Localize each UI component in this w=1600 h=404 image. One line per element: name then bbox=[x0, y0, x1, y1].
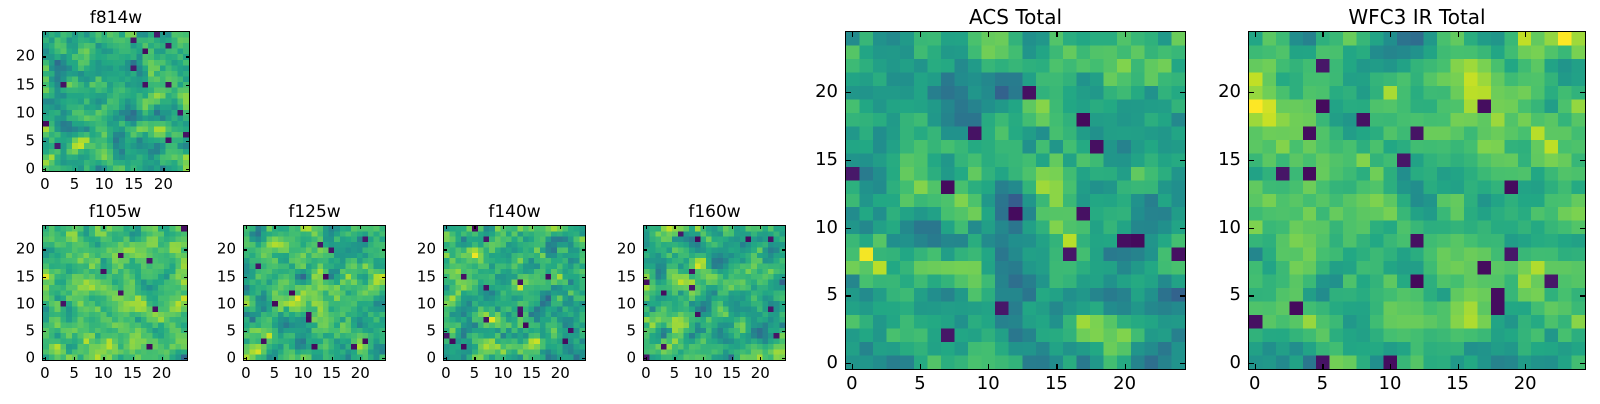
x-tick-mark-top bbox=[1525, 31, 1526, 37]
y-tick-label: 5 bbox=[0, 324, 35, 339]
x-tick-label: 10 bbox=[1379, 375, 1402, 393]
y-tick-mark bbox=[243, 331, 247, 332]
y-tick-mark bbox=[443, 277, 447, 278]
x-tick-label: 0 bbox=[40, 177, 50, 192]
heatmap-panel-wfc3-ir-total: WFC3 IR Total0510152005101520 bbox=[1178, 5, 1600, 404]
panel-title: ACS Total bbox=[845, 7, 1186, 27]
y-tick-label: 20 bbox=[373, 242, 436, 257]
x-tick-label: 20 bbox=[1514, 375, 1537, 393]
y-tick-mark-right bbox=[186, 113, 190, 114]
x-tick-label: 15 bbox=[1045, 375, 1068, 393]
x-tick-mark-top bbox=[760, 225, 761, 229]
y-tick-mark bbox=[443, 249, 447, 250]
x-tick-label: 20 bbox=[751, 366, 770, 381]
x-tick-mark bbox=[162, 357, 163, 361]
x-tick-mark bbox=[988, 364, 989, 370]
y-tick-mark bbox=[845, 295, 851, 296]
x-tick-label: 0 bbox=[846, 375, 857, 393]
x-tick-mark bbox=[360, 357, 361, 361]
x-tick-mark bbox=[1322, 364, 1323, 370]
axes-frame bbox=[1248, 31, 1586, 370]
panel-title: f125w bbox=[243, 204, 386, 221]
y-tick-label: 10 bbox=[373, 296, 436, 311]
x-tick-mark-top bbox=[45, 225, 46, 229]
y-tick-mark bbox=[243, 304, 247, 305]
x-tick-mark bbox=[560, 357, 561, 361]
y-tick-label: 5 bbox=[775, 286, 838, 304]
y-tick-mark bbox=[643, 304, 647, 305]
x-tick-mark bbox=[163, 168, 164, 172]
figure-canvas: f814w0510152005101520f105w05101520051015… bbox=[0, 0, 1600, 400]
x-tick-mark-top bbox=[360, 225, 361, 229]
x-tick-mark-top bbox=[446, 225, 447, 229]
y-tick-label: 15 bbox=[373, 269, 436, 284]
y-tick-label: 10 bbox=[0, 296, 35, 311]
x-tick-label: 5 bbox=[1317, 375, 1328, 393]
y-tick-label: 5 bbox=[373, 324, 436, 339]
x-tick-mark bbox=[760, 357, 761, 361]
y-tick-label: 0 bbox=[373, 351, 436, 366]
x-tick-mark-top bbox=[45, 31, 46, 35]
x-tick-label: 10 bbox=[94, 366, 113, 381]
x-tick-mark-top bbox=[503, 225, 504, 229]
x-tick-mark bbox=[74, 357, 75, 361]
y-tick-mark bbox=[845, 228, 851, 229]
x-tick-mark-top bbox=[246, 225, 247, 229]
x-tick-mark bbox=[134, 168, 135, 172]
x-tick-mark-top bbox=[1458, 31, 1459, 37]
x-tick-mark-top bbox=[1255, 31, 1256, 37]
x-tick-label: 0 bbox=[1249, 375, 1260, 393]
x-tick-label: 5 bbox=[670, 366, 680, 381]
x-tick-label: 10 bbox=[294, 366, 313, 381]
x-tick-mark bbox=[1458, 364, 1459, 370]
x-tick-mark bbox=[920, 364, 921, 370]
heatmap-image bbox=[444, 226, 585, 360]
y-tick-mark bbox=[42, 331, 46, 332]
y-tick-label: 0 bbox=[173, 351, 236, 366]
y-tick-mark bbox=[42, 141, 46, 142]
axes-frame bbox=[42, 31, 190, 172]
x-tick-mark-top bbox=[1056, 31, 1057, 37]
x-tick-mark-top bbox=[332, 225, 333, 229]
y-tick-mark bbox=[42, 277, 46, 278]
x-tick-mark-top bbox=[474, 225, 475, 229]
x-tick-mark-top bbox=[74, 225, 75, 229]
y-tick-label: 5 bbox=[1178, 286, 1241, 304]
x-tick-mark-top bbox=[703, 225, 704, 229]
x-tick-mark bbox=[104, 168, 105, 172]
y-tick-label: 10 bbox=[573, 296, 636, 311]
y-tick-label: 20 bbox=[775, 83, 838, 101]
x-tick-mark-top bbox=[852, 31, 853, 37]
x-tick-label: 5 bbox=[914, 375, 925, 393]
y-tick-mark bbox=[643, 277, 647, 278]
x-tick-label: 15 bbox=[1446, 375, 1469, 393]
y-tick-label: 20 bbox=[1178, 83, 1241, 101]
panel-title: f140w bbox=[443, 204, 586, 221]
y-tick-mark bbox=[643, 249, 647, 250]
y-tick-mark-right bbox=[1580, 92, 1586, 93]
x-tick-mark bbox=[474, 357, 475, 361]
x-tick-mark-top bbox=[303, 225, 304, 229]
axes-frame bbox=[845, 31, 1186, 370]
x-tick-label: 10 bbox=[694, 366, 713, 381]
panel-title: WFC3 IR Total bbox=[1248, 7, 1586, 27]
x-tick-mark bbox=[1125, 364, 1126, 370]
y-tick-mark bbox=[845, 160, 851, 161]
y-tick-mark-right bbox=[1580, 363, 1586, 364]
y-tick-label: 0 bbox=[573, 351, 636, 366]
y-tick-mark bbox=[42, 113, 46, 114]
y-tick-mark bbox=[1248, 363, 1254, 364]
y-tick-mark bbox=[42, 169, 46, 170]
y-tick-mark bbox=[443, 331, 447, 332]
y-tick-mark bbox=[243, 358, 247, 359]
x-tick-mark bbox=[274, 357, 275, 361]
axes-frame bbox=[42, 225, 188, 361]
x-tick-mark bbox=[503, 357, 504, 361]
y-tick-mark bbox=[1248, 92, 1254, 93]
x-tick-label: 15 bbox=[522, 366, 541, 381]
y-tick-mark bbox=[42, 56, 46, 57]
heatmap-image bbox=[1249, 32, 1585, 369]
x-tick-label: 20 bbox=[1113, 375, 1136, 393]
heatmap-image bbox=[43, 226, 187, 360]
y-tick-label: 10 bbox=[173, 296, 236, 311]
y-tick-label: 10 bbox=[775, 219, 838, 237]
y-tick-mark-right bbox=[186, 169, 190, 170]
y-tick-mark bbox=[443, 304, 447, 305]
y-tick-label: 5 bbox=[573, 324, 636, 339]
x-tick-mark-top bbox=[103, 225, 104, 229]
x-tick-mark bbox=[303, 357, 304, 361]
x-tick-mark-top bbox=[162, 225, 163, 229]
y-tick-label: 20 bbox=[573, 242, 636, 257]
y-tick-mark-right bbox=[1580, 295, 1586, 296]
x-tick-label: 15 bbox=[722, 366, 741, 381]
x-tick-mark bbox=[1390, 364, 1391, 370]
x-tick-label: 20 bbox=[351, 366, 370, 381]
axes-frame bbox=[243, 225, 386, 361]
x-tick-label: 20 bbox=[154, 177, 173, 192]
x-tick-mark-top bbox=[560, 225, 561, 229]
heatmap-image bbox=[43, 32, 189, 171]
x-tick-mark bbox=[332, 357, 333, 361]
y-tick-mark-right bbox=[186, 85, 190, 86]
y-tick-label: 0 bbox=[775, 354, 838, 372]
y-tick-label: 5 bbox=[173, 324, 236, 339]
x-tick-mark bbox=[732, 357, 733, 361]
y-tick-label: 15 bbox=[1178, 151, 1241, 169]
x-tick-mark-top bbox=[134, 31, 135, 35]
x-tick-mark-top bbox=[75, 31, 76, 35]
x-tick-label: 10 bbox=[977, 375, 1000, 393]
heatmap-image bbox=[644, 226, 785, 360]
x-tick-mark-top bbox=[532, 225, 533, 229]
x-tick-mark-top bbox=[133, 225, 134, 229]
y-tick-label: 10 bbox=[0, 105, 35, 120]
y-tick-label: 20 bbox=[0, 49, 35, 64]
y-tick-label: 15 bbox=[775, 151, 838, 169]
panel-title: f105w bbox=[42, 204, 188, 221]
y-tick-label: 15 bbox=[173, 269, 236, 284]
x-tick-label: 5 bbox=[69, 366, 79, 381]
y-tick-mark-right bbox=[186, 141, 190, 142]
x-tick-mark-top bbox=[1390, 31, 1391, 37]
y-tick-mark bbox=[1248, 228, 1254, 229]
y-tick-mark bbox=[243, 277, 247, 278]
panel-title: f814w bbox=[42, 10, 190, 27]
y-tick-label: 15 bbox=[0, 269, 35, 284]
y-tick-label: 20 bbox=[173, 242, 236, 257]
x-tick-label: 5 bbox=[70, 177, 80, 192]
x-tick-label: 15 bbox=[123, 366, 142, 381]
x-tick-label: 0 bbox=[241, 366, 251, 381]
x-tick-mark-top bbox=[163, 31, 164, 35]
x-tick-mark bbox=[103, 357, 104, 361]
axes-frame bbox=[443, 225, 586, 361]
x-tick-mark bbox=[674, 357, 675, 361]
y-tick-label: 5 bbox=[0, 133, 35, 148]
y-tick-mark bbox=[1248, 160, 1254, 161]
x-tick-mark bbox=[1056, 364, 1057, 370]
x-tick-label: 20 bbox=[551, 366, 570, 381]
axes-frame bbox=[643, 225, 786, 361]
x-tick-label: 0 bbox=[641, 366, 651, 381]
y-tick-mark bbox=[845, 363, 851, 364]
x-tick-label: 20 bbox=[152, 366, 171, 381]
y-tick-mark bbox=[42, 304, 46, 305]
x-tick-label: 10 bbox=[494, 366, 513, 381]
y-tick-label: 0 bbox=[0, 351, 35, 366]
y-tick-mark bbox=[243, 249, 247, 250]
y-tick-label: 15 bbox=[0, 77, 35, 92]
y-tick-mark-right bbox=[186, 56, 190, 57]
x-tick-mark bbox=[133, 357, 134, 361]
x-tick-mark bbox=[852, 364, 853, 370]
y-tick-mark bbox=[643, 331, 647, 332]
heatmap-image bbox=[244, 226, 385, 360]
x-tick-mark-top bbox=[646, 225, 647, 229]
x-tick-mark-top bbox=[674, 225, 675, 229]
y-tick-mark bbox=[42, 249, 46, 250]
x-tick-mark-top bbox=[104, 31, 105, 35]
heatmap-panel-f814w: f814w0510152005101520 bbox=[0, 5, 260, 206]
x-tick-mark-top bbox=[274, 225, 275, 229]
x-tick-label: 5 bbox=[270, 366, 280, 381]
x-tick-mark-top bbox=[988, 31, 989, 37]
x-tick-mark bbox=[1255, 364, 1256, 370]
y-tick-mark bbox=[42, 358, 46, 359]
x-tick-label: 0 bbox=[40, 366, 50, 381]
x-tick-label: 15 bbox=[124, 177, 143, 192]
x-tick-label: 0 bbox=[441, 366, 451, 381]
x-tick-mark-top bbox=[920, 31, 921, 37]
heatmap-image bbox=[846, 32, 1185, 369]
x-tick-label: 15 bbox=[322, 366, 341, 381]
x-tick-mark bbox=[75, 168, 76, 172]
y-tick-mark bbox=[845, 92, 851, 93]
x-tick-label: 5 bbox=[470, 366, 480, 381]
panel-title: f160w bbox=[643, 204, 786, 221]
y-tick-label: 10 bbox=[1178, 219, 1241, 237]
y-tick-mark-right bbox=[1580, 160, 1586, 161]
x-tick-mark bbox=[532, 357, 533, 361]
y-tick-mark bbox=[1248, 295, 1254, 296]
y-tick-mark bbox=[643, 358, 647, 359]
x-tick-mark-top bbox=[732, 225, 733, 229]
y-tick-label: 0 bbox=[0, 162, 35, 177]
y-tick-mark bbox=[42, 85, 46, 86]
y-tick-mark-right bbox=[1580, 228, 1586, 229]
x-tick-label: 10 bbox=[95, 177, 114, 192]
y-tick-label: 20 bbox=[0, 242, 35, 257]
x-tick-mark bbox=[703, 357, 704, 361]
y-tick-label: 15 bbox=[573, 269, 636, 284]
y-tick-mark bbox=[443, 358, 447, 359]
x-tick-mark-top bbox=[1125, 31, 1126, 37]
x-tick-mark-top bbox=[1322, 31, 1323, 37]
x-tick-mark bbox=[1525, 364, 1526, 370]
y-tick-label: 0 bbox=[1178, 354, 1241, 372]
